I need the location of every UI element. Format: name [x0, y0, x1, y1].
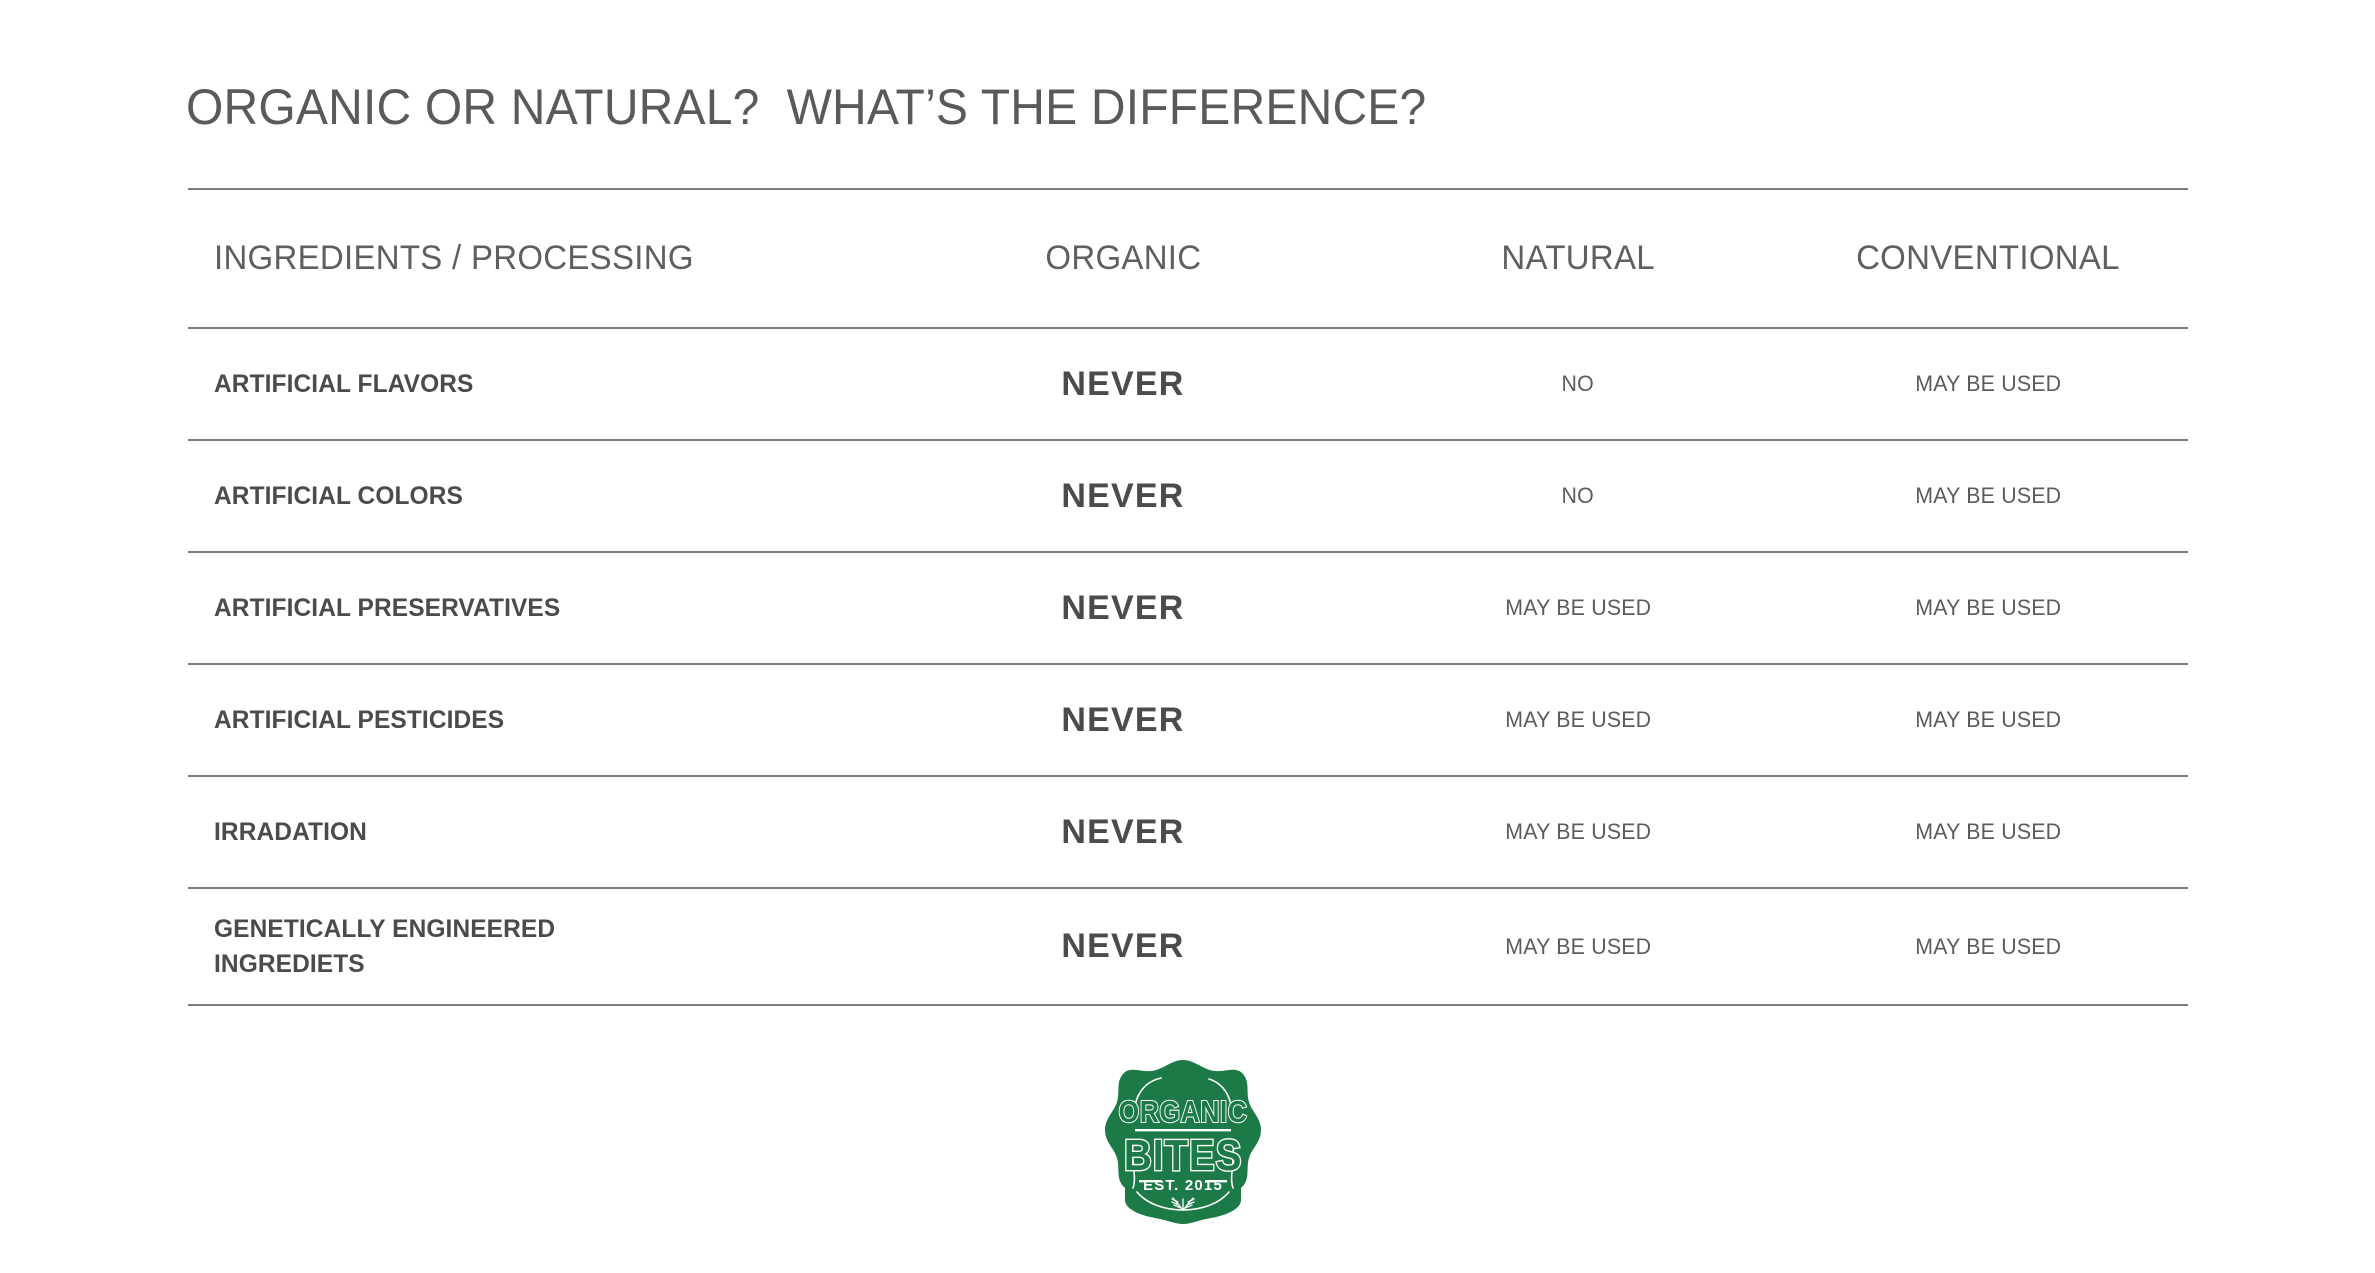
cell-organic: NEVER — [878, 477, 1368, 516]
column-header-ingredient: INGREDIENTS / PROCESSING — [188, 239, 878, 278]
comparison-table: INGREDIENTS / PROCESSING ORGANIC NATURAL… — [188, 188, 2188, 1006]
ingredient-label: ARTIFICIAL FLAVORS — [214, 367, 473, 402]
conventional-value: MAY BE USED — [1915, 934, 2061, 960]
conventional-value: MAY BE USED — [1915, 371, 2061, 397]
organic-bites-logo: ORGANIC BITES EST. 2015 — [1103, 1058, 1263, 1230]
cell-conventional: MAY BE USED — [1788, 819, 2188, 845]
table-row: ARTIFICIAL FLAVORS NEVER NO MAY BE USED — [188, 329, 2188, 439]
ingredient-label: ARTIFICIAL COLORS — [214, 479, 463, 514]
table-header-row: INGREDIENTS / PROCESSING ORGANIC NATURAL… — [188, 190, 2188, 327]
cell-natural: MAY BE USED — [1368, 595, 1788, 621]
natural-value: NO — [1562, 371, 1594, 397]
organic-value: NEVER — [1061, 701, 1184, 740]
column-header-conventional-label: CONVENTIONAL — [1856, 239, 2120, 278]
cell-conventional: MAY BE USED — [1788, 595, 2188, 621]
cell-conventional: MAY BE USED — [1788, 707, 2188, 733]
table-row: ARTIFICIAL PRESERVATIVES NEVER MAY BE US… — [188, 553, 2188, 663]
cell-ingredient: ARTIFICIAL FLAVORS — [188, 367, 878, 402]
ingredient-label: ARTIFICIAL PRESERVATIVES — [214, 591, 560, 626]
cell-natural: MAY BE USED — [1368, 934, 1788, 960]
organic-value: NEVER — [1061, 927, 1184, 966]
cell-conventional: MAY BE USED — [1788, 934, 2188, 960]
cell-ingredient: ARTIFICIAL PRESERVATIVES — [188, 591, 878, 626]
natural-value: MAY BE USED — [1505, 595, 1651, 621]
ingredient-label: IRRADATION — [214, 815, 367, 850]
natural-value: MAY BE USED — [1505, 819, 1651, 845]
organic-value: NEVER — [1061, 365, 1184, 404]
cell-natural: NO — [1368, 483, 1788, 509]
ingredient-label: ARTIFICIAL PESTICIDES — [214, 703, 504, 738]
conventional-value: MAY BE USED — [1915, 483, 2061, 509]
cell-ingredient: IRRADATION — [188, 815, 878, 850]
logo-line2: BITES — [1124, 1130, 1242, 1180]
conventional-value: MAY BE USED — [1915, 707, 2061, 733]
logo-line1: ORGANIC — [1119, 1095, 1248, 1129]
page-title: ORGANIC OR NATURAL? WHAT’S THE DIFFERENC… — [186, 78, 1426, 136]
column-header-organic-label: ORGANIC — [1045, 239, 1201, 278]
table-row: GENETICALLY ENGINEERED INGREDIETS NEVER … — [188, 889, 2188, 1004]
cell-natural: MAY BE USED — [1368, 819, 1788, 845]
cell-organic: NEVER — [878, 927, 1368, 966]
conventional-value: MAY BE USED — [1915, 819, 2061, 845]
column-header-conventional: CONVENTIONAL — [1788, 239, 2188, 278]
column-header-ingredient-label: INGREDIENTS / PROCESSING — [214, 239, 694, 278]
cell-conventional: MAY BE USED — [1788, 483, 2188, 509]
table-row: ARTIFICIAL COLORS NEVER NO MAY BE USED — [188, 441, 2188, 551]
organic-value: NEVER — [1061, 589, 1184, 628]
organic-value: NEVER — [1061, 813, 1184, 852]
table-row: IRRADATION NEVER MAY BE USED MAY BE USED — [188, 777, 2188, 887]
natural-value: NO — [1562, 483, 1594, 509]
conventional-value: MAY BE USED — [1915, 595, 2061, 621]
cell-ingredient: ARTIFICIAL PESTICIDES — [188, 703, 878, 738]
table-rule-bottom — [188, 1004, 2188, 1006]
cell-ingredient: ARTIFICIAL COLORS — [188, 479, 878, 514]
cell-ingredient: GENETICALLY ENGINEERED INGREDIETS — [188, 912, 878, 982]
column-header-natural-label: NATURAL — [1501, 239, 1655, 278]
cell-natural: NO — [1368, 371, 1788, 397]
natural-value: MAY BE USED — [1505, 707, 1651, 733]
logo-line3: EST. 2015 — [1143, 1177, 1223, 1194]
cell-conventional: MAY BE USED — [1788, 371, 2188, 397]
cell-organic: NEVER — [878, 813, 1368, 852]
cell-organic: NEVER — [878, 365, 1368, 404]
badge-icon: ORGANIC BITES EST. 2015 — [1103, 1058, 1263, 1230]
cell-organic: NEVER — [878, 701, 1368, 740]
cell-natural: MAY BE USED — [1368, 707, 1788, 733]
column-header-natural: NATURAL — [1368, 239, 1788, 278]
natural-value: MAY BE USED — [1505, 934, 1651, 960]
table-row: ARTIFICIAL PESTICIDES NEVER MAY BE USED … — [188, 665, 2188, 775]
slide-canvas: ORGANIC OR NATURAL? WHAT’S THE DIFFERENC… — [0, 0, 2375, 1273]
cell-organic: NEVER — [878, 589, 1368, 628]
ingredient-label: GENETICALLY ENGINEERED INGREDIETS — [214, 912, 555, 982]
organic-value: NEVER — [1061, 477, 1184, 516]
column-header-organic: ORGANIC — [878, 239, 1368, 278]
